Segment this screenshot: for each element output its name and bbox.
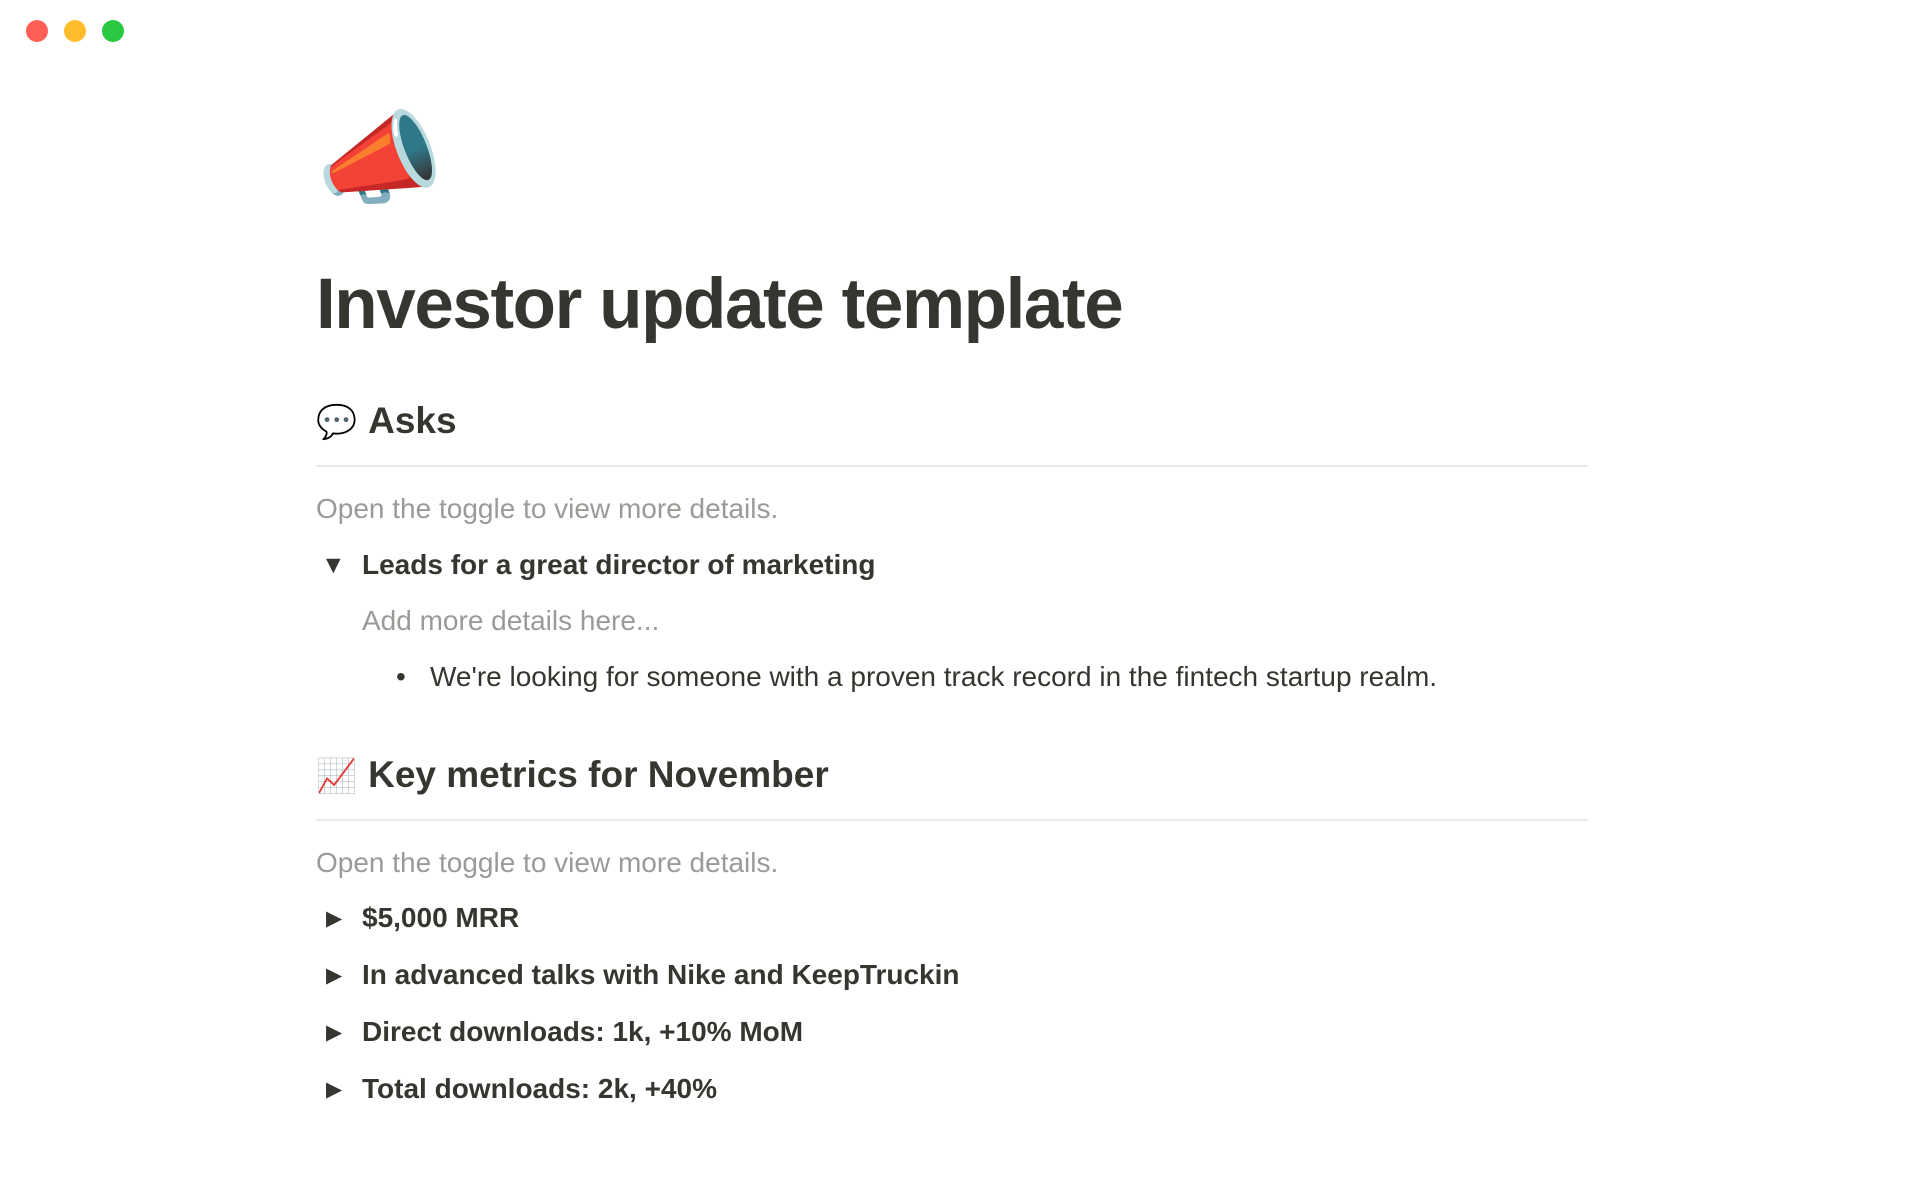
section-heading-key-metrics: 📈 Key metrics for November — [316, 752, 1596, 798]
toggle-header[interactable]: ▶ Total downloads: 2k, +40% — [316, 1067, 1596, 1111]
chevron-right-icon[interactable]: ▶ — [316, 953, 362, 997]
section-key-metrics: 📈 Key metrics for November Open the togg… — [316, 752, 1596, 1112]
toggle-header[interactable]: ▶ In advanced talks with Nike and KeepTr… — [316, 953, 1596, 997]
toggle-block: ▶ Direct downloads: 1k, +10% MoM — [316, 1010, 1596, 1054]
chart-increasing-icon: 📈 — [316, 759, 357, 792]
section-hint: Open the toggle to view more details. — [316, 489, 1596, 530]
section-divider — [316, 819, 1588, 821]
toggle-block: ▶ $5,000 MRR — [316, 896, 1596, 940]
list-item-text: We're looking for someone with a proven … — [430, 656, 1437, 698]
maximize-window-button[interactable] — [102, 20, 124, 42]
section-hint: Open the toggle to view more details. — [316, 843, 1596, 884]
document-page: 📣 Investor update template 💬 Asks Open t… — [0, 62, 1920, 1200]
megaphone-emoji[interactable]: 📣 — [316, 98, 1596, 226]
document-content: 📣 Investor update template 💬 Asks Open t… — [316, 62, 1596, 1111]
toggle-header[interactable]: ▶ $5,000 MRR — [316, 896, 1596, 940]
toggle-block: ▶ In advanced talks with Nike and KeepTr… — [316, 953, 1596, 997]
window-controls — [26, 20, 124, 42]
section-heading-text: Key metrics for November — [368, 752, 829, 798]
chevron-right-icon[interactable]: ▶ — [316, 1067, 362, 1111]
toggle-title[interactable]: $5,000 MRR — [362, 896, 519, 940]
toggle-content: Add more details here... • We're looking… — [316, 601, 1596, 698]
close-window-button[interactable] — [26, 20, 48, 42]
toggle-title[interactable]: In advanced talks with Nike and KeepTruc… — [362, 953, 960, 997]
toggle-list-asks: ▼ Leads for a great director of marketin… — [316, 543, 1596, 698]
minimize-window-button[interactable] — [64, 20, 86, 42]
chevron-right-icon[interactable]: ▶ — [316, 896, 362, 940]
toggle-title[interactable]: Leads for a great director of marketing — [362, 543, 875, 587]
chevron-down-icon[interactable]: ▼ — [316, 543, 362, 587]
toggle-header[interactable]: ▶ Direct downloads: 1k, +10% MoM — [316, 1010, 1596, 1054]
list-item[interactable]: • We're looking for someone with a prove… — [396, 656, 1596, 698]
toggle-header[interactable]: ▼ Leads for a great director of marketin… — [316, 543, 1596, 587]
toggle-title[interactable]: Total downloads: 2k, +40% — [362, 1067, 717, 1111]
toggle-block: ▶ Total downloads: 2k, +40% — [316, 1067, 1596, 1111]
toggle-block: ▼ Leads for a great director of marketin… — [316, 543, 1596, 698]
toggle-title[interactable]: Direct downloads: 1k, +10% MoM — [362, 1010, 803, 1054]
section-asks: 💬 Asks Open the toggle to view more deta… — [316, 398, 1596, 697]
section-heading-asks: 💬 Asks — [316, 398, 1596, 444]
page-title[interactable]: Investor update template — [316, 266, 1596, 344]
window-titlebar — [0, 0, 1920, 62]
chevron-right-icon[interactable]: ▶ — [316, 1010, 362, 1054]
section-divider — [316, 465, 1588, 467]
bulleted-list: • We're looking for someone with a prove… — [362, 656, 1596, 698]
section-heading-text: Asks — [368, 398, 456, 444]
toggle-list-key-metrics: ▶ $5,000 MRR ▶ In advanced talks with Ni… — [316, 896, 1596, 1111]
bullet-icon: • — [396, 656, 430, 698]
toggle-child-hint[interactable]: Add more details here... — [362, 601, 1596, 642]
speech-balloon-icon: 💬 — [316, 405, 357, 438]
